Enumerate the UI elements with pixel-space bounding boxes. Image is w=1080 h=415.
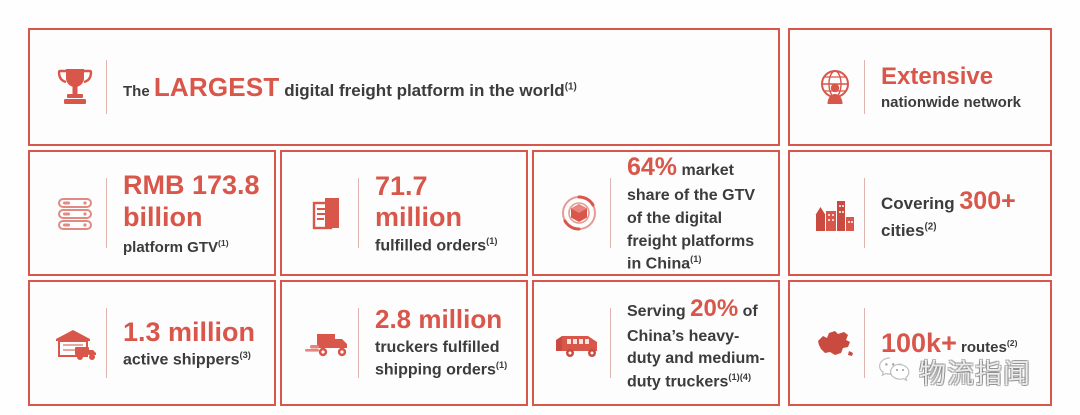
card-serving: Serving 20% of China’s heavy-duty and me… bbox=[532, 280, 780, 406]
largest-lead: The bbox=[123, 83, 154, 100]
shippers-label-text: active shippers bbox=[123, 351, 240, 368]
market-share-footnote: (1) bbox=[690, 254, 701, 264]
document-icon bbox=[296, 191, 358, 235]
shippers-footnote: (3) bbox=[240, 350, 251, 360]
orders-label: fulfilled orders(1) bbox=[375, 236, 516, 255]
infographic-root: The LARGEST digital freight platform in … bbox=[0, 0, 1080, 415]
orders-stat: 71.7 million bbox=[375, 171, 516, 233]
city-skyline-icon bbox=[806, 193, 864, 233]
card-orders-text: 71.7 million fulfilled orders(1) bbox=[359, 171, 526, 255]
gtv-label-text: platform GTV bbox=[123, 239, 218, 256]
truckers-label-text: truckers fulfilled shipping orders bbox=[375, 339, 499, 378]
orders-label-text: fulfilled orders bbox=[375, 237, 486, 254]
cities-footnote: (2) bbox=[924, 221, 936, 232]
cube-cycle-icon bbox=[548, 191, 610, 235]
routes-label: routes bbox=[957, 339, 1007, 356]
truckers-stat: 2.8 million bbox=[375, 305, 516, 335]
card-orders: 71.7 million fulfilled orders(1) bbox=[280, 150, 528, 276]
trophy-icon bbox=[44, 65, 106, 109]
gtv-footnote: (1) bbox=[218, 238, 229, 248]
routes-footnote: (2) bbox=[1007, 338, 1018, 348]
truckers-label: truckers fulfilled shipping orders(1) bbox=[375, 337, 516, 381]
truckers-footnote: (1) bbox=[496, 360, 507, 370]
stats-card-grid: The LARGEST digital freight platform in … bbox=[28, 28, 1052, 406]
card-routes-text: 100k+ routes(2) bbox=[865, 328, 1050, 359]
truck-icon bbox=[296, 325, 358, 361]
card-truckers-text: 2.8 million truckers fulfilled shipping … bbox=[359, 305, 526, 380]
extensive-label: nationwide network bbox=[881, 94, 1040, 111]
globe-person-icon bbox=[806, 66, 864, 108]
cities-lead: Covering bbox=[881, 194, 959, 213]
routes-stat: 100k+ bbox=[881, 328, 957, 358]
extensive-stat: Extensive bbox=[881, 63, 1040, 91]
orders-footnote: (1) bbox=[486, 236, 497, 246]
card-shippers: 1.3 million active shippers(3) bbox=[28, 280, 276, 406]
serving-footnote: (1)(4) bbox=[728, 372, 751, 382]
card-serving-text: Serving 20% of China’s heavy-duty and me… bbox=[611, 292, 778, 393]
warehouse-icon bbox=[44, 323, 106, 363]
card-routes: 100k+ routes(2) bbox=[788, 280, 1052, 406]
card-cities: Covering 300+cities(2) bbox=[788, 150, 1052, 276]
china-map-icon bbox=[806, 325, 864, 361]
serving-lead: Serving bbox=[627, 303, 690, 320]
largest-label: digital freight platform in the world bbox=[279, 81, 564, 100]
card-shippers-text: 1.3 million active shippers(3) bbox=[107, 317, 274, 369]
largest-footnote: (1) bbox=[565, 81, 577, 92]
card-gtv: RMB 173.8 billion platform GTV(1) bbox=[28, 150, 276, 276]
card-market-share-text: 64% market share of the GTV of the digit… bbox=[611, 150, 778, 277]
gtv-stat: RMB 173.8 billion bbox=[123, 170, 264, 234]
van-icon bbox=[548, 326, 610, 360]
card-largest-text: The LARGEST digital freight platform in … bbox=[107, 71, 778, 104]
largest-stat: LARGEST bbox=[154, 72, 280, 102]
serving-stat: 20% bbox=[690, 295, 738, 322]
card-cities-text: Covering 300+cities(2) bbox=[865, 184, 1050, 243]
shippers-label: active shippers(3) bbox=[123, 350, 264, 369]
card-largest: The LARGEST digital freight platform in … bbox=[28, 28, 780, 146]
cities-stat: 300+ bbox=[959, 187, 1015, 215]
market-share-stat: 64% bbox=[627, 153, 677, 181]
cities-label: cities bbox=[881, 221, 924, 240]
gtv-label: platform GTV(1) bbox=[123, 238, 264, 256]
server-stack-icon bbox=[44, 191, 106, 235]
shippers-stat: 1.3 million bbox=[123, 317, 264, 348]
card-truckers: 2.8 million truckers fulfilled shipping … bbox=[280, 280, 528, 406]
card-gtv-text: RMB 173.8 billion platform GTV(1) bbox=[107, 170, 274, 257]
card-extensive: Extensive nationwide network bbox=[788, 28, 1052, 146]
card-market-share: 64% market share of the GTV of the digit… bbox=[532, 150, 780, 276]
card-extensive-text: Extensive nationwide network bbox=[865, 63, 1050, 111]
